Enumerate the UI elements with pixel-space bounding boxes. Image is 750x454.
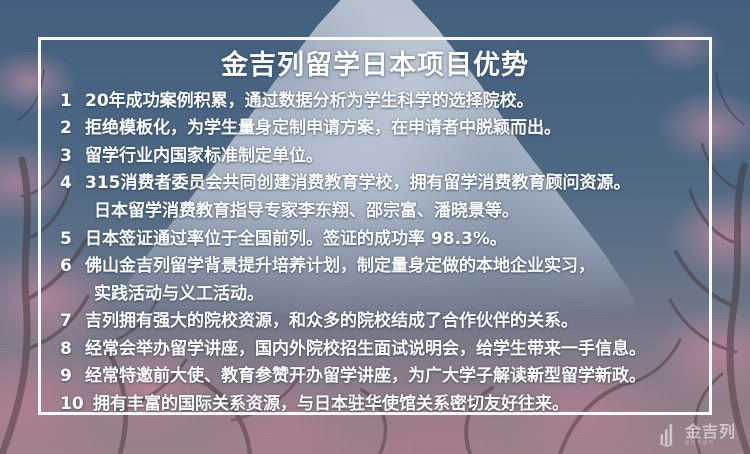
- list-item-text: 日本签证通过率位于全国前列。签证的成功率 98.3%。: [85, 226, 507, 254]
- list-item-continuation: 日本留学消费教育指导专家李东翔、邵宗富、潘晓景等。: [60, 198, 694, 226]
- watermark-text-block: 金吉列 金吉列留学: [685, 424, 736, 447]
- list-item: 3 留学行业内国家标准制定单位。: [60, 143, 694, 171]
- poster-root: 金吉列留学日本项目优势 1 20年成功案例积累，通过数据分析为学生科学的选择院校…: [0, 0, 750, 454]
- list-item-continuation: 实践活动与义工活动。: [60, 281, 694, 309]
- watermark-subtitle: 金吉列留学: [685, 442, 736, 447]
- list-item-text: 实践活动与义工活动。: [85, 281, 264, 309]
- list-item: 1 20年成功案例积累，通过数据分析为学生科学的选择院校。: [60, 88, 694, 116]
- list-item-number: 8: [60, 336, 80, 364]
- list-item: 7 吉列拥有强大的院校资源，和众多的院校结成了合作伙伴的关系。: [60, 308, 694, 336]
- list-item-number: 10: [60, 391, 88, 419]
- poster-content: 金吉列留学日本项目优势 1 20年成功案例积累，通过数据分析为学生科学的选择院校…: [38, 37, 712, 415]
- list-item-number: 4: [60, 170, 80, 198]
- page-title: 金吉列留学日本项目优势: [52, 50, 698, 82]
- list-item-text: 吉列拥有强大的院校资源，和众多的院校结成了合作伙伴的关系。: [85, 308, 578, 336]
- list-item-number: 9: [60, 363, 80, 391]
- list-item-text: 日本留学消费教育指导专家李东翔、邵宗富、潘晓景等。: [85, 198, 519, 226]
- list-item-number: 6: [60, 253, 80, 281]
- list-item: 6 佛山金吉列留学背景提升培养计划，制定量身定做的本地企业实习，: [60, 253, 694, 281]
- list-item: 4 315消费者委员会共同创建消费教育学校，拥有留学消费教育顾问资源。: [60, 170, 694, 198]
- list-item-text: 315消费者委员会共同创建消费教育学校，拥有留学消费教育顾问资源。: [85, 170, 631, 198]
- list-item-text: 拒绝模板化，为学生量身定制申请方案，在申请者中脱颖而出。: [85, 115, 561, 143]
- list-item-number: 2: [60, 115, 80, 143]
- list-item-text: 经常特邀前大使、教育参赞开办留学讲座，为广大学子解读新型留学新政。: [85, 363, 646, 391]
- list-item: 9 经常特邀前大使、教育参赞开办留学讲座，为广大学子解读新型留学新政。: [60, 363, 694, 391]
- list-item-text: 20年成功案例积累，通过数据分析为学生科学的选择院校。: [85, 88, 534, 116]
- list-item-text: 留学行业内国家标准制定单位。: [85, 143, 323, 171]
- advantages-list: 1 20年成功案例积累，通过数据分析为学生科学的选择院校。 2 拒绝模板化，为学…: [52, 88, 698, 418]
- list-item: 10 拥有丰富的国际关系资源，与日本驻华使馆关系密切友好往来。: [60, 391, 694, 419]
- list-item: 8 经常会举办留学讲座，国内外院校招生面试说明会，给学生带来一手信息。: [60, 336, 694, 364]
- list-item-text: 佛山金吉列留学背景提升培养计划，制定量身定做的本地企业实习，: [85, 253, 595, 281]
- list-item: 2 拒绝模板化，为学生量身定制申请方案，在申请者中脱颖而出。: [60, 115, 694, 143]
- list-item-number: 1: [60, 88, 80, 116]
- list-item: 5 日本签证通过率位于全国前列。签证的成功率 98.3%。: [60, 226, 694, 254]
- jjl-logo-icon: [659, 423, 680, 447]
- watermark-brand: 金吉列: [685, 424, 736, 440]
- list-item-text: 经常会举办留学讲座，国内外院校招生面试说明会，给学生带来一手信息。: [85, 336, 646, 364]
- list-item-text: 拥有丰富的国际关系资源，与日本驻华使馆关系密切友好往来。: [93, 391, 569, 419]
- list-item-number: 7: [60, 308, 80, 336]
- list-item-number: 5: [60, 226, 80, 254]
- brand-watermark: 金吉列 金吉列留学: [659, 423, 736, 447]
- list-item-number: 3: [60, 143, 80, 171]
